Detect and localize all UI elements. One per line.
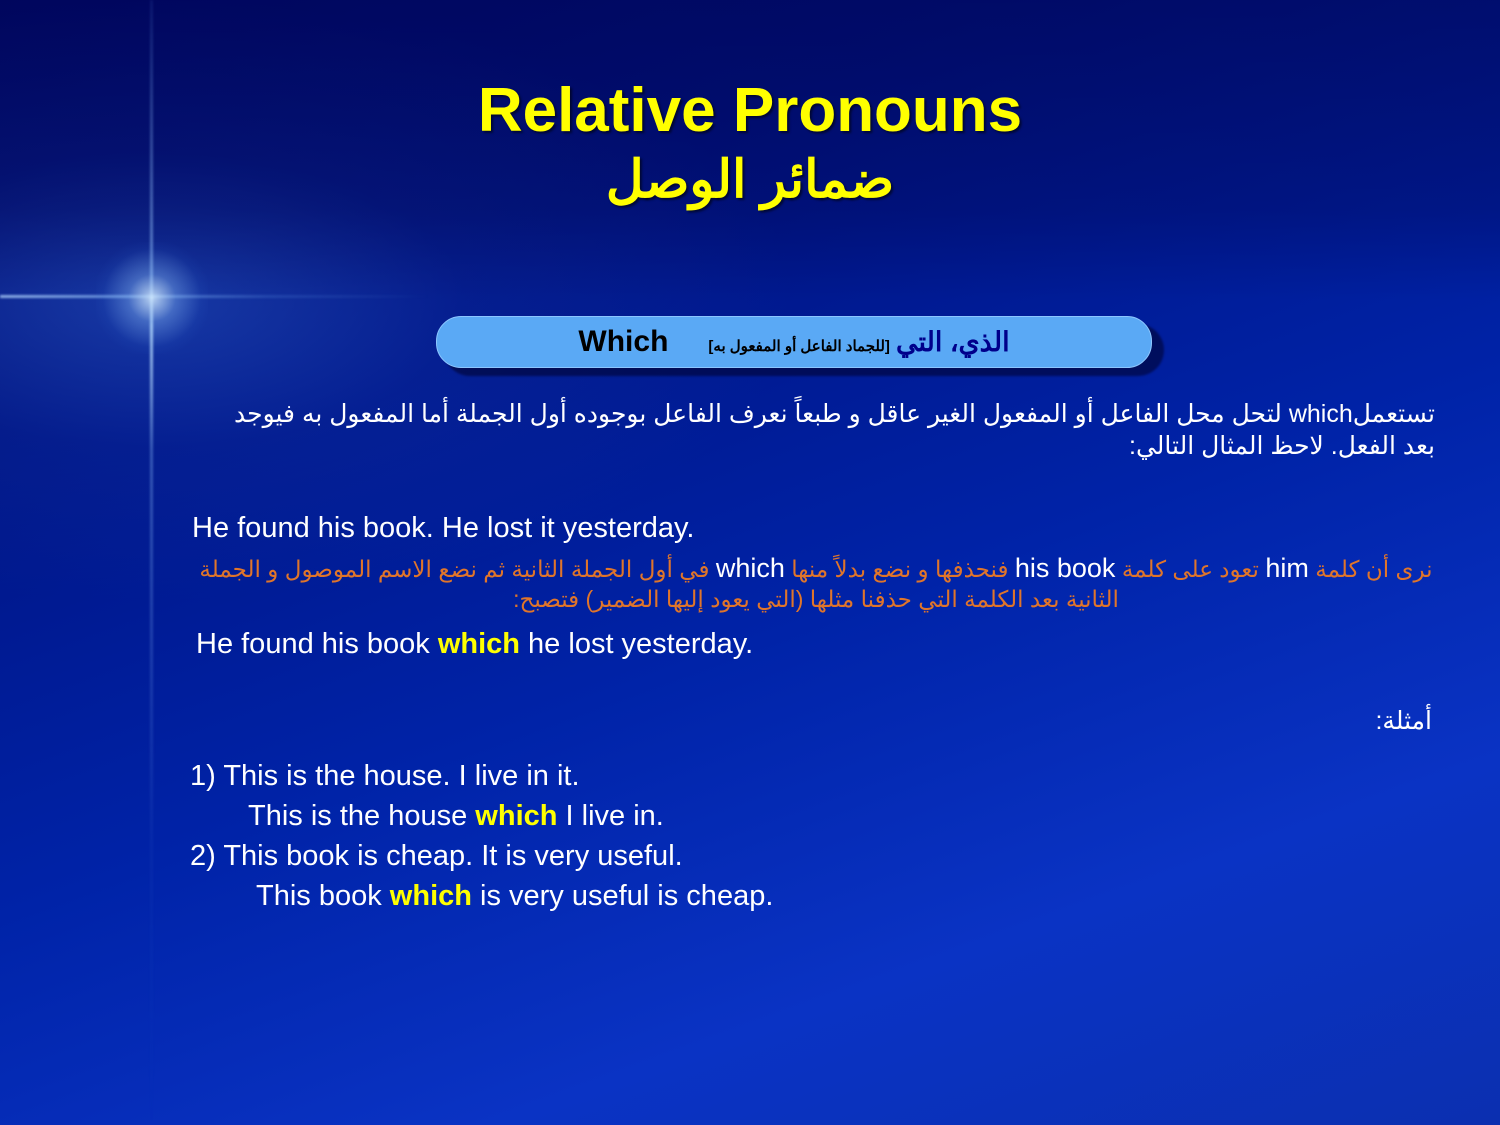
example-1-answer-highlight: which: [475, 800, 557, 832]
pill-label-arabic-note: [للجماد الفاعل أو المفعول به]: [708, 337, 890, 355]
example-1-answer-part-b: I live in.: [557, 800, 663, 832]
pill-label-arabic: الذي، التي: [896, 327, 1010, 358]
page-title-arabic: ضمائر الوصل: [0, 148, 1500, 213]
list-item: 1) This is the house. I live in it. This…: [190, 756, 773, 836]
example-sentence-2-highlight: which: [438, 628, 520, 660]
example-2-answer-part-b: is very useful is cheap.: [472, 880, 773, 912]
example-sentence-2-part-a: He found his book: [196, 628, 438, 660]
intro-paragraph-arabic: تستعملwhich لتحل محل الفاعل أو المفعول ا…: [195, 398, 1435, 462]
pill-label-arabic-group: الذي، التي [للجماد الفاعل أو المفعول به]: [708, 327, 1009, 358]
decorative-star-glow: [96, 242, 208, 354]
explanation-seg3: فنحذفها و نضع بدلاً منها: [791, 556, 1008, 582]
intro-text-after: لتحل محل الفاعل أو المفعول الغير عاقل و …: [234, 400, 1435, 460]
explanation-seg1: نرى أن كلمة: [1315, 556, 1432, 582]
explanation-word-which: which: [716, 553, 785, 583]
intro-word-which: which: [1289, 400, 1353, 428]
example-2-prompt: 2) This book is cheap. It is very useful…: [190, 836, 773, 876]
title-block: Relative Pronouns ضمائر الوصل: [0, 80, 1500, 213]
example-2-answer-part-a: This book: [256, 880, 390, 912]
example-sentence-2: He found his book which he lost yesterda…: [196, 628, 753, 661]
example-2-answer: This book which is very useful is cheap.: [190, 876, 773, 916]
example-sentence-2-part-b: he lost yesterday.: [520, 628, 753, 660]
pill-body: Which الذي، التي [للجماد الفاعل أو المفع…: [436, 316, 1152, 368]
intro-text-before: تستعمل: [1353, 400, 1435, 428]
list-item: 2) This book is cheap. It is very useful…: [190, 836, 773, 916]
example-sentence-1: He found his book. He lost it yesterday.: [192, 512, 694, 545]
examples-list: 1) This is the house. I live in it. This…: [190, 756, 773, 916]
slide-canvas: Relative Pronouns ضمائر الوصل Which الذي…: [0, 0, 1500, 1125]
explanation-seg2: تعود على كلمة: [1122, 556, 1259, 582]
pill-label-english: Which: [578, 325, 668, 359]
page-title-english: Relative Pronouns: [0, 80, 1500, 142]
explanation-word-his-book: his book: [1015, 553, 1116, 583]
example-1-answer: This is the house which I live in.: [190, 796, 773, 836]
which-header-pill: Which الذي، التي [للجماد الفاعل أو المفع…: [436, 316, 1156, 372]
explanation-paragraph-arabic: نرى أن كلمة him تعود على كلمة his book ف…: [196, 552, 1436, 613]
example-1-prompt: 1) This is the house. I live in it.: [190, 756, 773, 796]
explanation-word-him: him: [1265, 553, 1309, 583]
example-1-answer-part-a: This is the house: [248, 800, 475, 832]
decorative-horizontal-beam: [0, 295, 430, 298]
example-2-answer-highlight: which: [390, 880, 472, 912]
examples-label: أمثلة:: [1375, 706, 1432, 736]
